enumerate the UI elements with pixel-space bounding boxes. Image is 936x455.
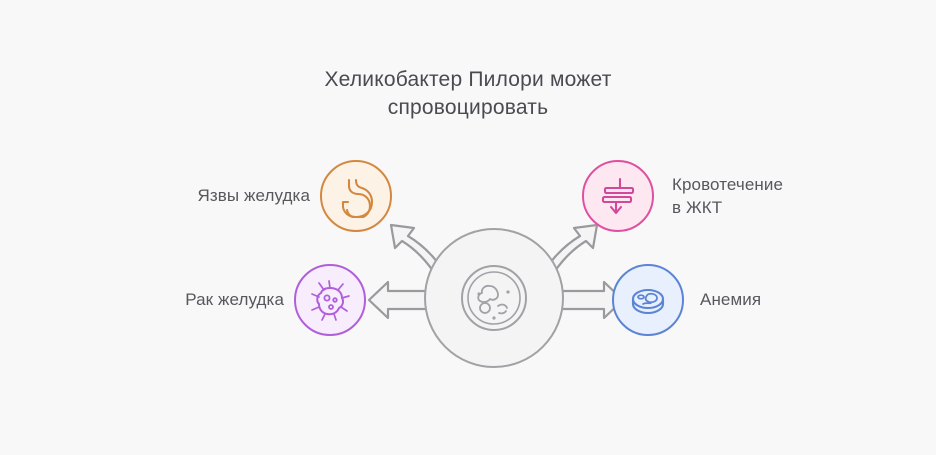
stomach-icon xyxy=(334,174,378,218)
blood-cell-dish-icon xyxy=(626,278,670,322)
outcome-node-cancer[interactable] xyxy=(294,264,366,336)
infographic-canvas: Хеликобактер Пилори может спровоцировать… xyxy=(0,0,936,455)
cancer-cell-icon xyxy=(308,278,352,322)
gi-bleeding-arrow-icon xyxy=(596,174,640,218)
outcome-label-anemia: Анемия xyxy=(700,288,930,311)
outcome-node-ulcer[interactable] xyxy=(320,160,392,232)
bacteria-petri-dish-icon xyxy=(458,262,530,334)
outcome-label-ulcer: Язвы желудка xyxy=(0,184,310,207)
outcome-node-bleeding[interactable] xyxy=(582,160,654,232)
outcome-label-cancer: Рак желудка xyxy=(0,288,284,311)
page-title: Хеликобактер Пилори может спровоцировать xyxy=(268,66,668,121)
outcome-node-anemia[interactable] xyxy=(612,264,684,336)
outcome-label-bleeding: Кровотечение в ЖКТ xyxy=(672,173,922,220)
